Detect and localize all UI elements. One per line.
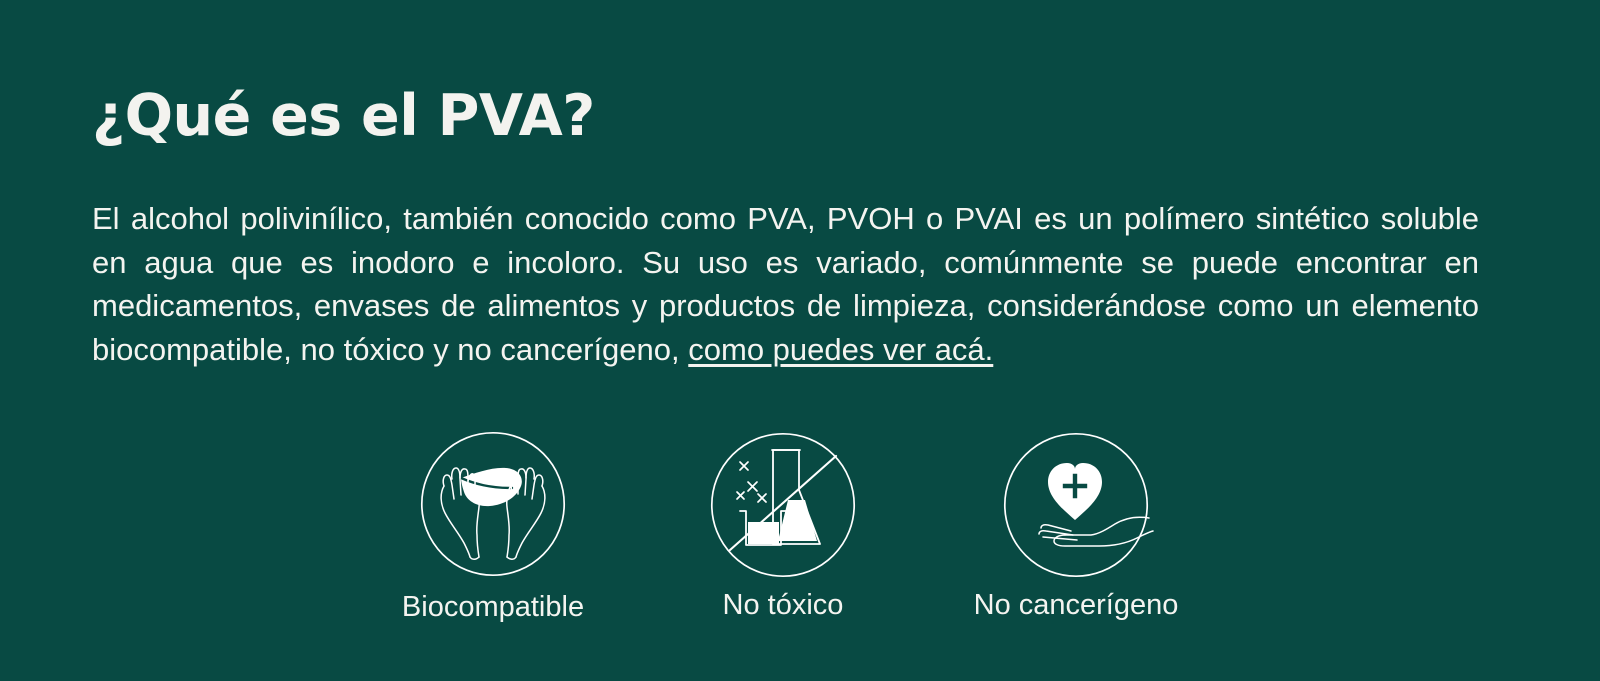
benefit-badges-row: Biocompatible <box>0 430 1600 640</box>
hand-holding-heart-plus-icon <box>1003 432 1149 578</box>
hands-holding-leaf-icon <box>420 431 566 577</box>
more-info-link[interactable]: como puedes ver acá. <box>688 332 993 367</box>
badge-biocompatible: Biocompatible <box>378 431 608 622</box>
badge-no-toxico: No tóxico <box>668 432 898 620</box>
pva-info-panel: ¿Qué es el PVA? El alcohol polivinílico,… <box>0 0 1600 681</box>
badge-label: Biocompatible <box>378 593 608 622</box>
badge-label: No cancerígeno <box>961 591 1191 620</box>
description-paragraph: El alcohol polivinílico, también conocid… <box>92 197 1479 371</box>
badge-no-cancerigeno: No cancerígeno <box>961 432 1191 620</box>
badge-label: No tóxico <box>668 591 898 620</box>
no-chemicals-icon <box>710 432 856 578</box>
page-title: ¿Qué es el PVA? <box>92 86 595 146</box>
